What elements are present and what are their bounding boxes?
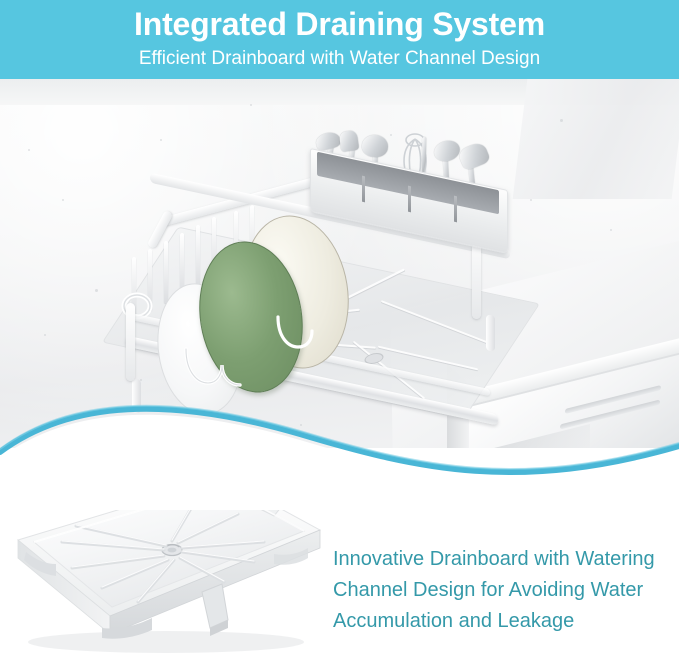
caddy-divider [362, 176, 365, 203]
counter-speck [28, 149, 30, 151]
slotted-spoon-head-icon [361, 134, 388, 158]
plate-support-wire-icon [182, 343, 252, 391]
header-banner: Integrated Draining System Efficient Dra… [0, 0, 679, 79]
counter-speck [250, 104, 252, 106]
rack-side-rail-left [126, 303, 135, 381]
product-caption: Innovative Drainboard with Watering Chan… [333, 544, 669, 637]
drainboard-illustration-icon [6, 464, 332, 654]
spatula-head-icon [314, 130, 341, 151]
fork-head-icon [339, 130, 360, 152]
counter-speck [44, 334, 46, 336]
product-photo-scene [0, 79, 679, 459]
product-infographic: Integrated Draining System Efficient Dra… [0, 0, 679, 657]
page-subtitle: Efficient Drainboard with Water Channel … [0, 47, 679, 71]
counter-speck [610, 229, 612, 231]
rack-leg [132, 379, 141, 414]
utensil-caddy [310, 147, 506, 239]
turner-head-icon [457, 141, 491, 172]
caddy-divider [454, 196, 457, 223]
dish-drying-rack [122, 107, 542, 437]
drainboard-product-image [6, 464, 332, 654]
caddy-divider [408, 186, 411, 213]
rack-wire [196, 225, 200, 288]
ladle-head-icon [432, 138, 463, 164]
counter-speck [62, 199, 64, 201]
counter-speck [95, 289, 98, 292]
rack-wire [164, 241, 168, 304]
page-title: Integrated Draining System [0, 4, 679, 44]
plate-support-wire-icon [274, 313, 334, 357]
rack-leg [486, 315, 495, 352]
counter-speck [560, 119, 563, 122]
lower-section: Innovative Drainboard with Watering Chan… [0, 448, 679, 657]
